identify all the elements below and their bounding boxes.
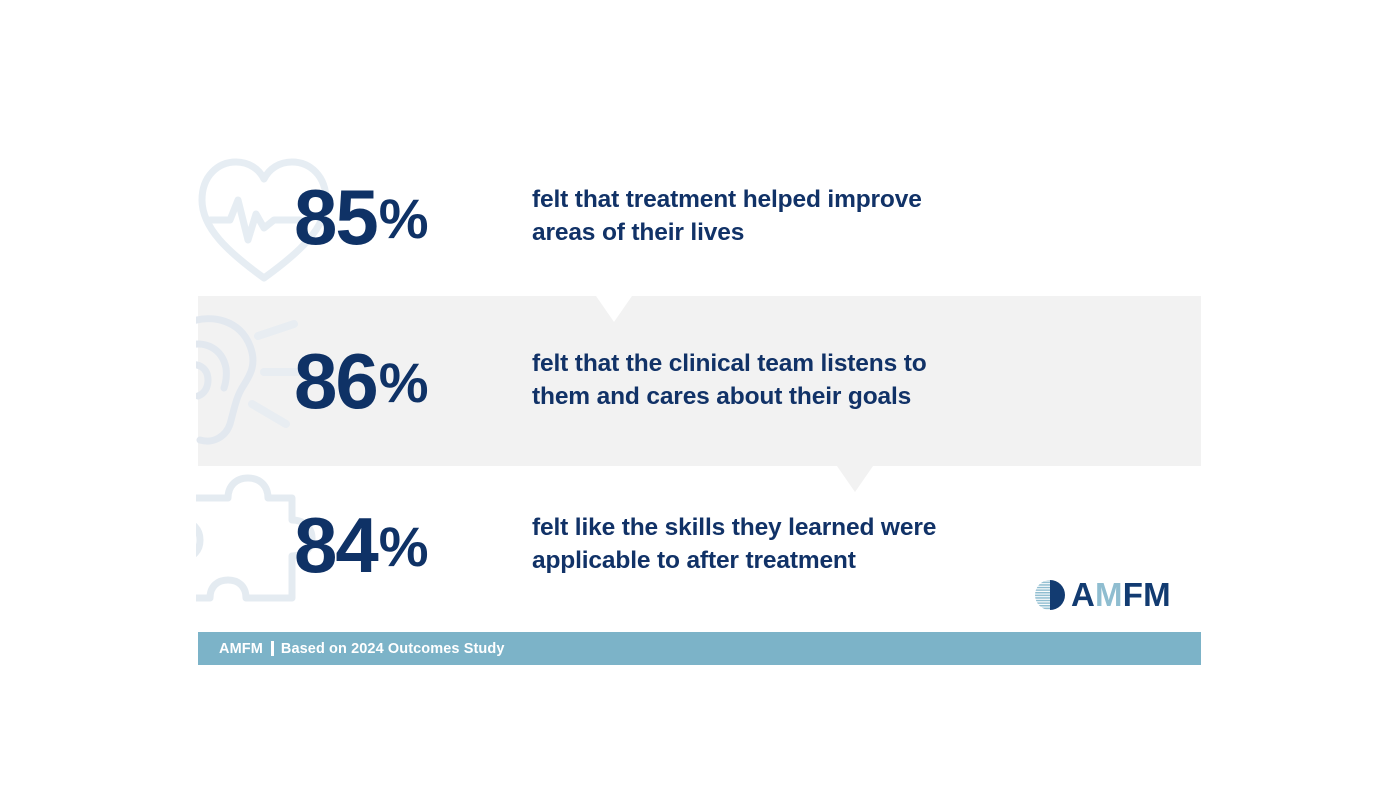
stat-description-1: felt that treatment helped improve areas… <box>498 184 922 249</box>
stat-value-3: 84% <box>198 506 498 584</box>
stat-value-2: 86% <box>198 342 498 420</box>
amfm-circle-mark-icon <box>1034 579 1066 611</box>
stat-description-2: felt that the clinical team listens to t… <box>498 348 927 413</box>
logo-letter-a: A <box>1071 576 1095 613</box>
stat-number-1: 85 <box>294 173 377 261</box>
stat-description-2-line1: felt that the clinical team listens to <box>532 350 927 377</box>
stat-row-1: 85% felt that treatment helped improve a… <box>198 148 1201 286</box>
footer-source-bar: AMFM Based on 2024 Outcomes Study <box>198 632 1201 665</box>
notch-top-triangle <box>596 296 632 322</box>
stat-description-1-line1: felt that treatment helped improve <box>532 186 922 213</box>
stat-description-3-line2: applicable to after treatment <box>532 545 936 578</box>
footer-divider <box>271 641 274 656</box>
percent-symbol-1: % <box>379 187 428 250</box>
logo-letter-m2: M <box>1143 576 1171 613</box>
stat-row-2: 86% felt that the clinical team listens … <box>198 296 1201 466</box>
percent-symbol-3: % <box>379 515 428 578</box>
percent-symbol-2: % <box>379 351 428 414</box>
stat-description-3-line1: felt like the skills they learned were <box>532 514 936 541</box>
stat-number-2: 86 <box>294 337 377 425</box>
logo-letter-f: F <box>1123 576 1143 613</box>
footer-brand-label: AMFM <box>219 641 263 657</box>
stat-description-1-line2: areas of their lives <box>532 217 922 250</box>
amfm-logo: AMFM <box>1034 578 1171 611</box>
amfm-wordmark: AMFM <box>1071 578 1171 611</box>
logo-letter-m1: M <box>1095 576 1123 613</box>
stat-description-2-line2: them and cares about their goals <box>532 381 927 414</box>
infographic-canvas: 85% felt that treatment helped improve a… <box>0 0 1400 800</box>
footer-source-label: Based on 2024 Outcomes Study <box>281 641 505 657</box>
stat-number-3: 84 <box>294 501 377 589</box>
stat-value-1: 85% <box>198 178 498 256</box>
stat-description-3: felt like the skills they learned were a… <box>498 512 936 577</box>
